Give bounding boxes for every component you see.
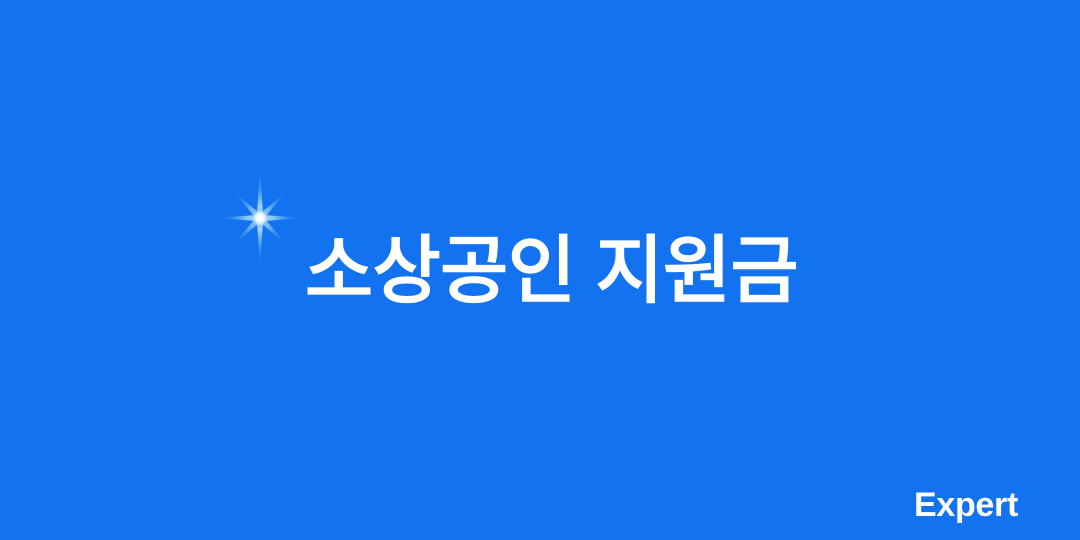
- sparkle-icon: [200, 158, 320, 278]
- page-title: 소상공인 지원금: [305, 225, 798, 317]
- brand-logo: Expert: [914, 488, 1018, 522]
- promo-banner: 소상공인 지원금 Expert: [0, 0, 1080, 540]
